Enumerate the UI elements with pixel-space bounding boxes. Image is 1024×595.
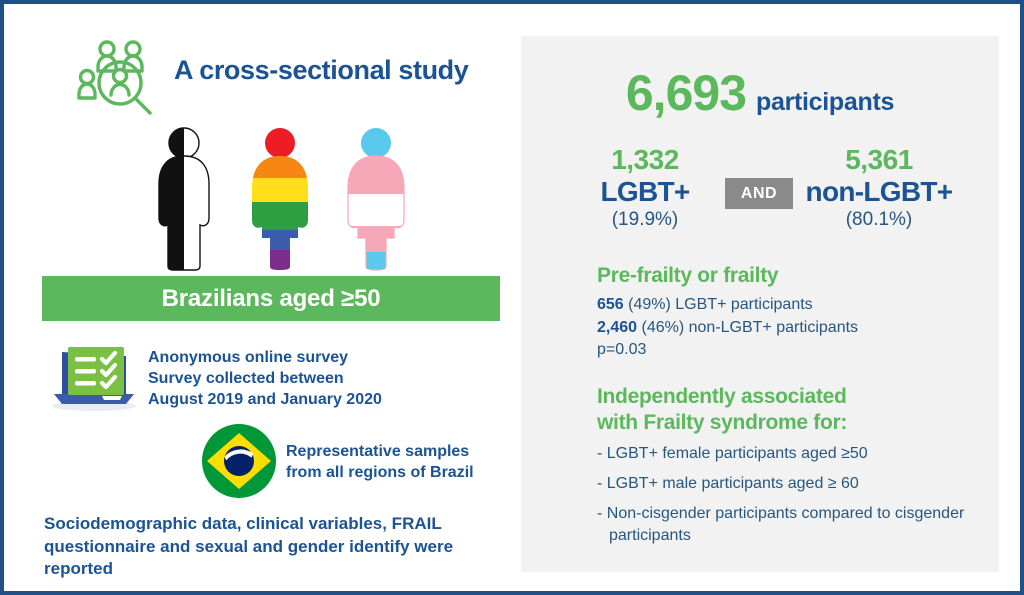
page-title: A cross-sectional study (174, 55, 468, 86)
age-banner-text: Brazilians aged ≥50 (162, 285, 381, 313)
association-heading-line-1: Independently associated (597, 384, 997, 410)
figure-rainbow-pride (235, 126, 325, 271)
frailty-non-lgbt-rest: (46%) non-LGBT+ participants (637, 319, 858, 336)
association-block: Independently associated with Frailty sy… (597, 384, 997, 555)
lgbt-name: LGBT+ (555, 176, 735, 208)
laptop-checklist-icon (46, 342, 142, 412)
frailty-lgbt-rest: (49%) LGBT+ participants (624, 296, 813, 313)
and-badge-text: AND (741, 185, 777, 203)
lgbt-count: 1,332 (555, 144, 735, 176)
lgbt-percent: (19.9%) (555, 208, 735, 233)
association-item: - LGBT+ female participants aged ≥50 (597, 443, 997, 466)
frailty-p-value: p=0.03 (597, 339, 987, 362)
brazil-flag-circle-icon (202, 424, 276, 498)
age-banner: Brazilians aged ≥50 (42, 276, 500, 321)
participants-count: 6,693 (626, 64, 746, 122)
survey-block: Anonymous online survey Survey collected… (46, 342, 476, 412)
non-lgbt-percent: (80.1%) (779, 208, 979, 233)
frailty-line-lgbt: 656 (49%) LGBT+ participants (597, 294, 987, 317)
brazil-block: Representative samples from all regions … (202, 424, 502, 498)
people-search-icon (74, 37, 166, 115)
non-lgbt-group: 5,361 non-LGBT+ (80.1%) (779, 144, 979, 233)
non-lgbt-name: non-LGBT+ (779, 176, 979, 208)
association-heading-line-2: with Frailty syndrome for: (597, 410, 997, 436)
lgbt-group: 1,332 LGBT+ (19.9%) (555, 144, 735, 233)
frailty-block: Pre-frailty or frailty 656 (49%) LGBT+ p… (597, 264, 987, 362)
survey-text: Anonymous online survey Survey collected… (148, 347, 382, 410)
brazil-text: Representative samples from all regions … (286, 441, 474, 483)
association-item: - Non-cisgender participants compared to… (597, 503, 997, 548)
participants-row: 6,693 participants (521, 64, 999, 122)
brazil-line-2: from all regions of Brazil (286, 462, 474, 483)
left-column: A cross-sectional study (4, 4, 519, 591)
brazil-line-1: Representative samples (286, 441, 474, 462)
frailty-heading: Pre-frailty or frailty (597, 264, 987, 288)
figure-binary-black-white (139, 126, 229, 271)
participants-label: participants (756, 88, 894, 117)
association-heading: Independently associated with Frailty sy… (597, 384, 997, 435)
frailty-lgbt-value: 656 (597, 296, 624, 313)
gender-figures-row (139, 126, 439, 271)
survey-line-2: Survey collected between (148, 368, 382, 389)
non-lgbt-count: 5,361 (779, 144, 979, 176)
study-header: A cross-sectional study (74, 37, 494, 115)
group-split-row: 1,332 LGBT+ (19.9%) AND 5,361 non-LGBT+ … (521, 144, 999, 239)
figure-transgender (331, 126, 421, 271)
survey-line-3: August 2019 and January 2020 (148, 389, 382, 410)
association-item: - LGBT+ male participants aged ≥ 60 (597, 473, 997, 496)
footer-note: Sociodemographic data, clinical variable… (44, 513, 509, 581)
frailty-line-non-lgbt: 2,460 (46%) non-LGBT+ participants (597, 317, 987, 340)
frailty-non-lgbt-value: 2,460 (597, 319, 637, 336)
results-panel: 6,693 participants 1,332 LGBT+ (19.9%) A… (521, 36, 999, 572)
survey-line-1: Anonymous online survey (148, 347, 382, 368)
infographic-canvas: A cross-sectional study (0, 0, 1024, 595)
